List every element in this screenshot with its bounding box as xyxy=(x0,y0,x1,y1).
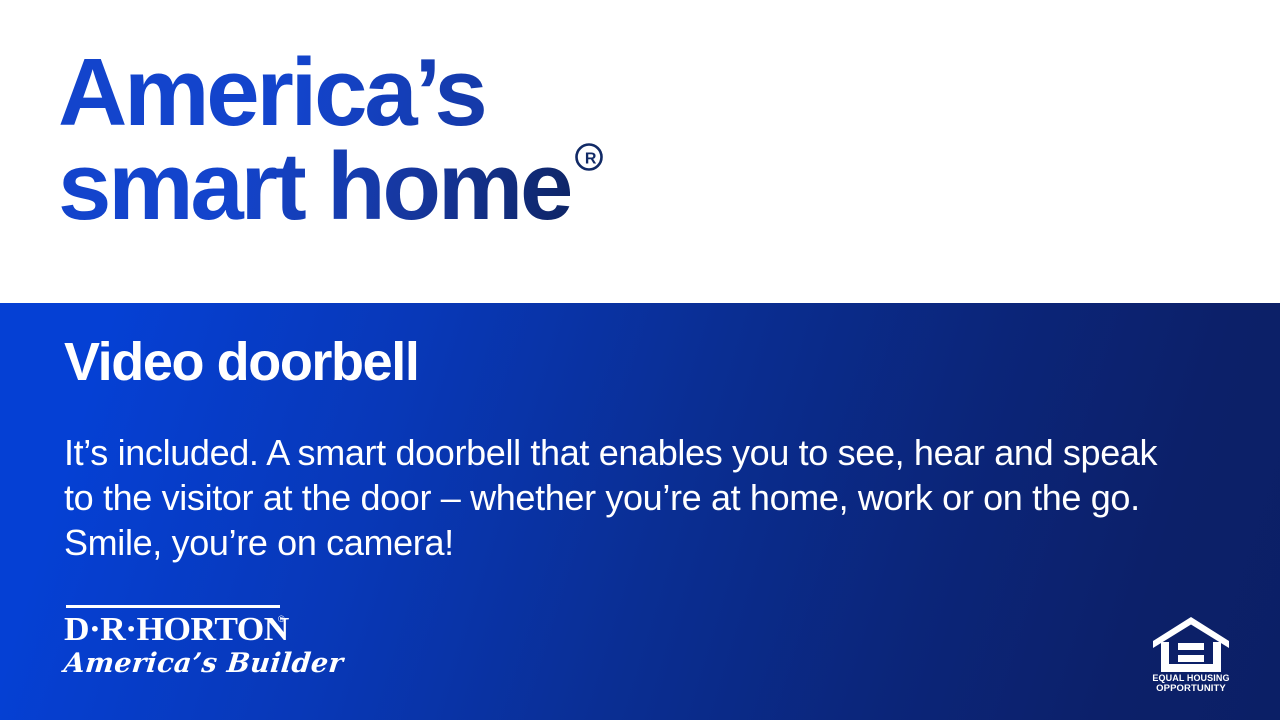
equal-housing-label-line-1: EQUAL HOUSING xyxy=(1152,673,1230,684)
brand-headline-line-2-text: smart home xyxy=(58,133,570,240)
equal-housing-house-icon xyxy=(1152,615,1230,673)
brand-headline-line-1: America’s xyxy=(58,46,758,140)
svg-text:R: R xyxy=(585,151,597,168)
equal-housing-opportunity-logo: EQUAL HOUSING OPPORTUNITY xyxy=(1152,615,1230,694)
brand-headline-line-2: smart home R xyxy=(58,140,570,234)
drhorton-wordmark-row: D·R·HORTON ® xyxy=(64,614,286,646)
equal-housing-label-line-2: OPPORTUNITY xyxy=(1152,684,1230,695)
feature-title: Video doorbell xyxy=(64,333,418,391)
drhorton-tagline: America’s Builder xyxy=(62,649,344,679)
drhorton-wordmark: D·R·HORTON xyxy=(64,614,289,646)
drhorton-rule xyxy=(66,605,280,608)
feature-description: It’s included. A smart doorbell that ena… xyxy=(64,430,1194,565)
drhorton-registered-trademark-icon: ® xyxy=(278,615,285,624)
brand-band: America’s smart home R xyxy=(0,0,1280,303)
brand-lockup: America’s smart home R xyxy=(58,46,758,234)
slide-canvas: America’s smart home R Video doorbell It… xyxy=(0,0,1280,720)
feature-panel: Video doorbell It’s included. A smart do… xyxy=(0,303,1280,720)
drhorton-logo: D·R·HORTON ® America’s Builder xyxy=(64,605,286,679)
registered-trademark-icon: R xyxy=(574,142,604,172)
